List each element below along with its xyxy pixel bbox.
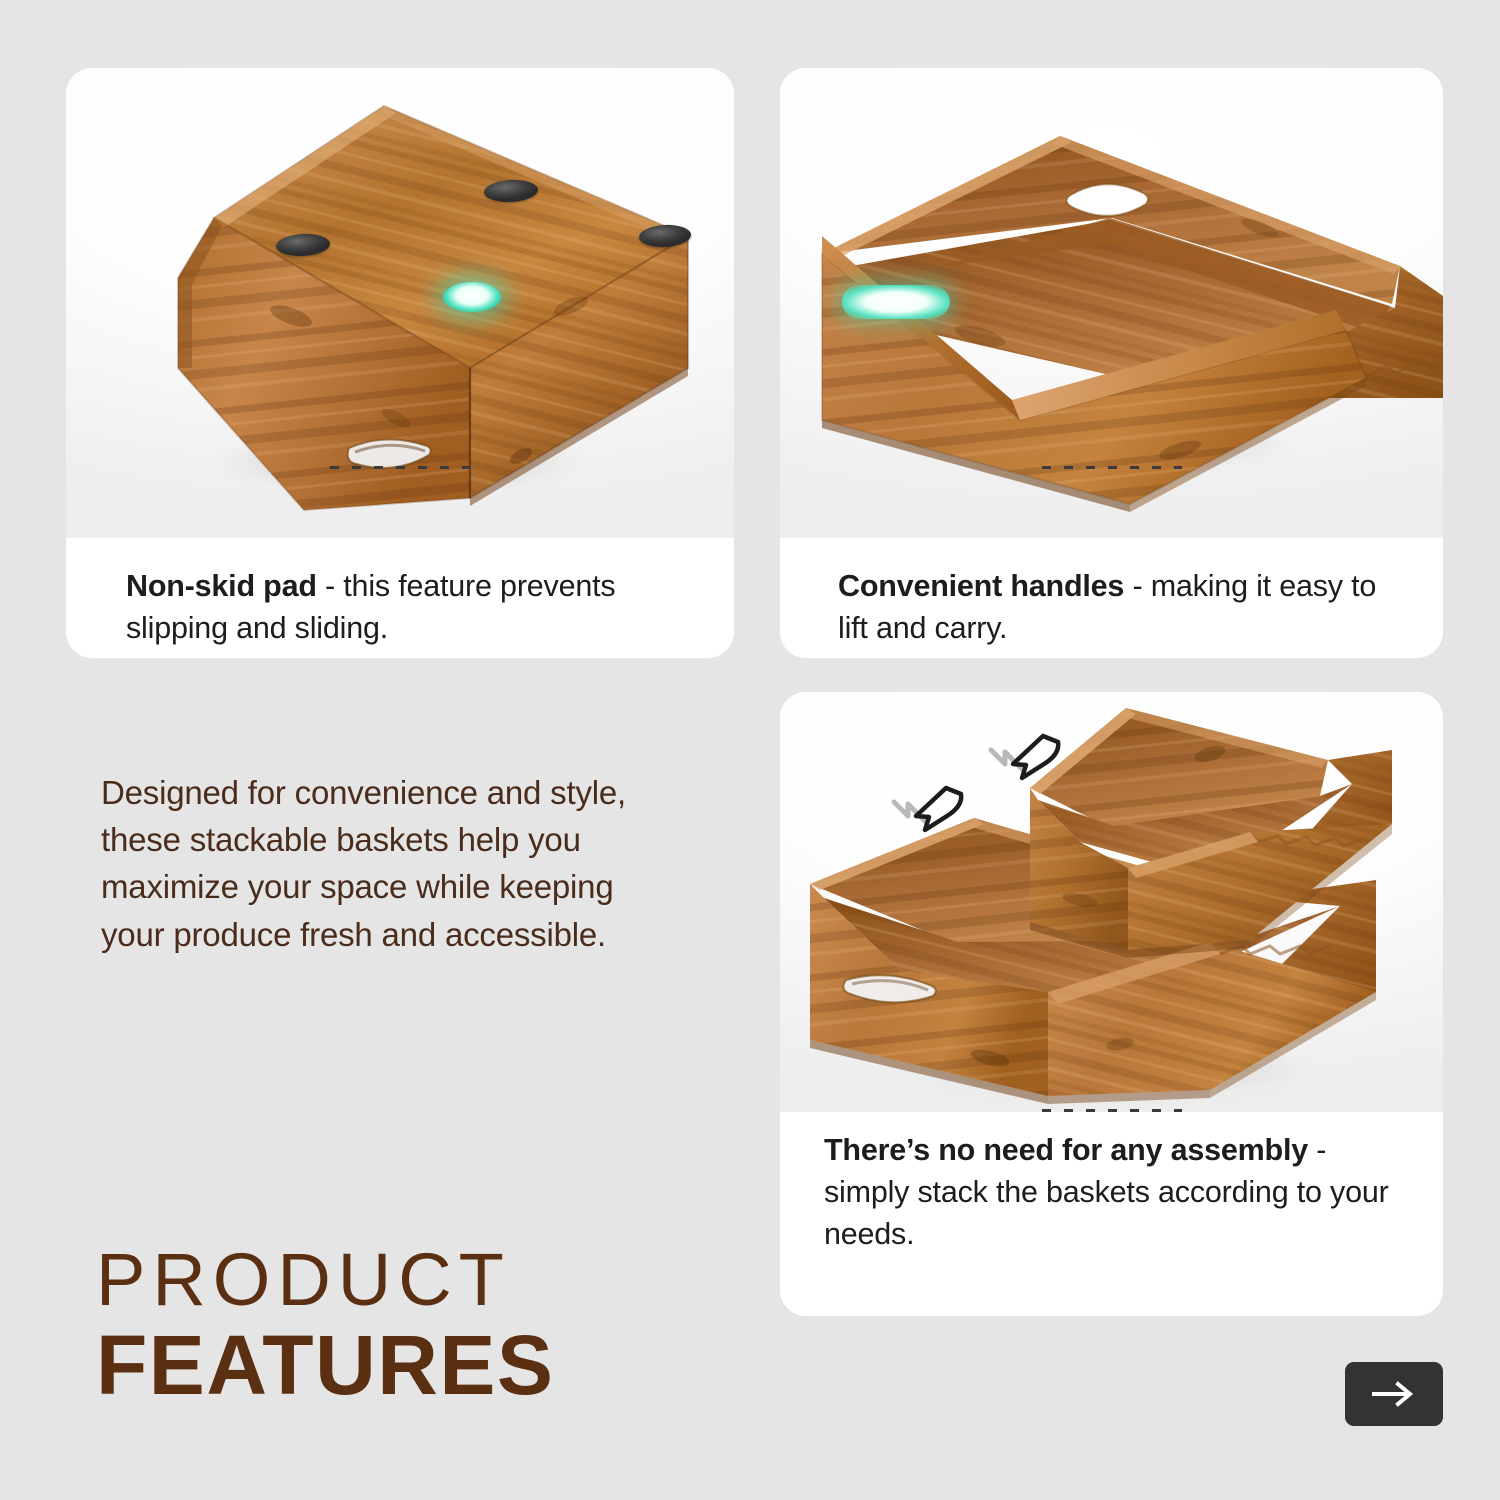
card-caption: There’s no need for any assembly - simpl… <box>824 1130 1403 1255</box>
headline-line-features: FEATURES <box>96 1321 554 1409</box>
caption-bold: Non-skid pad <box>126 569 317 603</box>
feature-card-no-assembly: There’s no need for any assembly - simpl… <box>780 692 1443 1316</box>
dashed-divider <box>1042 466 1182 469</box>
feature-card-non-skid-pad: Non-skid pad - this feature prevents sli… <box>66 68 734 658</box>
dashed-divider <box>330 466 470 469</box>
motion-arrow-icon-1 <box>894 788 961 830</box>
feature-card-convenient-handles: Convenient handles - making it easy to l… <box>780 68 1443 658</box>
non-skid-pad-highlight <box>443 282 501 312</box>
dashed-divider <box>1042 1109 1182 1112</box>
caption-bold: Convenient handles <box>838 569 1124 603</box>
intro-paragraph: Designed for convenience and style, thes… <box>101 769 631 958</box>
page-title: PRODUCT FEATURES <box>96 1242 554 1410</box>
next-button[interactable] <box>1345 1362 1443 1426</box>
motion-arrow-icon-2 <box>991 736 1058 778</box>
infographic-canvas: Non-skid pad - this feature prevents sli… <box>0 0 1500 1500</box>
card-caption: Convenient handles - making it easy to l… <box>838 566 1403 650</box>
arrow-right-icon <box>1372 1381 1416 1407</box>
card-caption: Non-skid pad - this feature prevents sli… <box>126 566 692 650</box>
handle-highlight <box>842 285 950 319</box>
caption-bold: There’s no need for any assembly <box>824 1133 1308 1167</box>
headline-line-product: PRODUCT <box>96 1242 554 1317</box>
product-image-stacked-baskets <box>780 692 1443 1112</box>
stacked-baskets-illustration <box>780 692 1443 1112</box>
